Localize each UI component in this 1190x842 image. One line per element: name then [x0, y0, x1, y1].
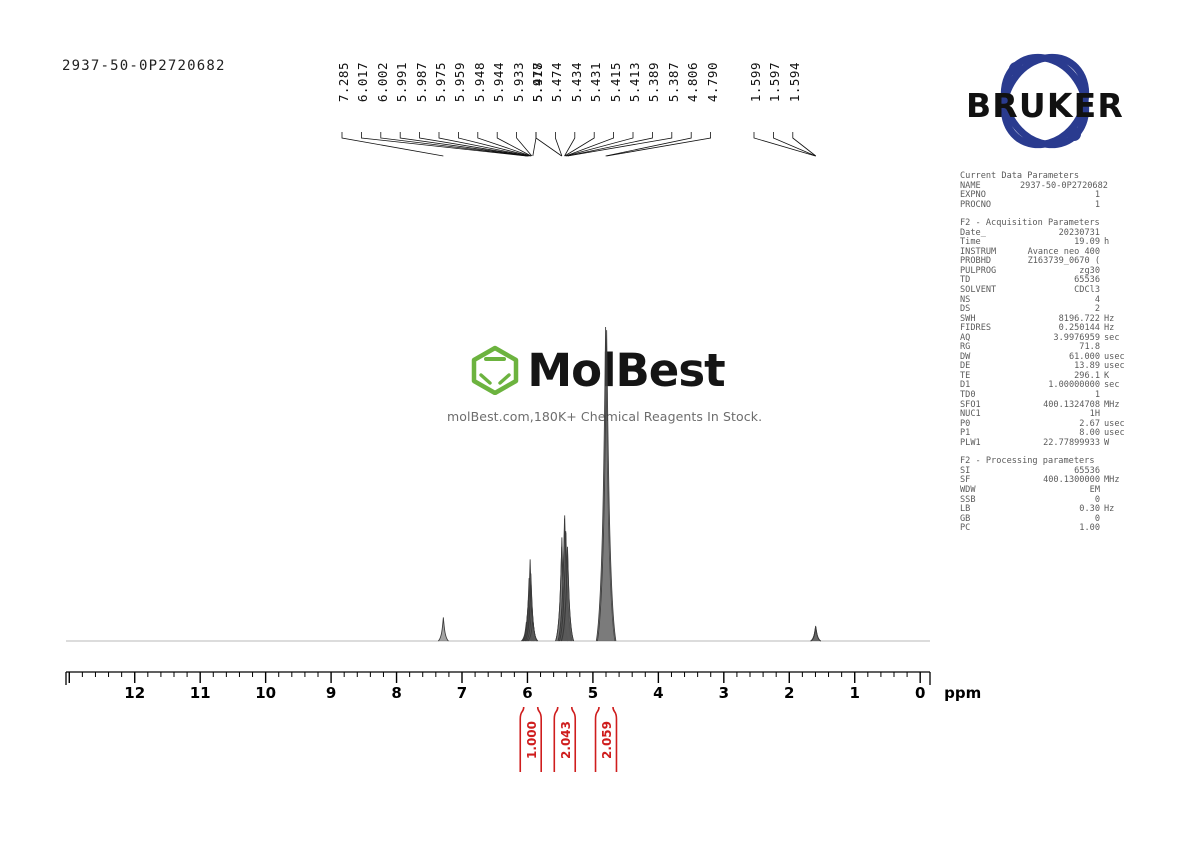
- axis-tick-label: 5: [588, 684, 598, 702]
- integral-value: 2.059: [600, 721, 614, 759]
- spectrum-peak: [438, 617, 448, 641]
- integral-value: 2.043: [559, 721, 573, 759]
- peak-leader-lines: [342, 132, 816, 156]
- axis-tick-label: 2: [784, 684, 794, 702]
- peak-leader-line: [606, 132, 692, 156]
- axis-tick-label: 7: [457, 684, 467, 702]
- axis-tick-label: 12: [124, 684, 145, 702]
- axis-tick-label: 1: [850, 684, 860, 702]
- spectrum-plot: [0, 0, 1190, 842]
- axis-tick-label: 9: [326, 684, 336, 702]
- peak-leader-line: [565, 132, 575, 156]
- axis-tick-label: 6: [522, 684, 532, 702]
- axis-tick-label: 11: [190, 684, 211, 702]
- axis-tick-label: 10: [255, 684, 276, 702]
- peak-leader-line: [533, 132, 536, 156]
- axis-tick-label: 3: [719, 684, 729, 702]
- peak-leader-line: [773, 132, 815, 156]
- axis-unit-label: ppm: [944, 684, 981, 702]
- spectrum-trace: [66, 327, 930, 641]
- spectrum-peak: [811, 627, 821, 641]
- axis-tick-label: 0: [915, 684, 925, 702]
- nmr-spectrum-page: 2937-50-0P2720682 BRUKER 7.2856.0176.002…: [0, 0, 1190, 842]
- axis-tick-label: 4: [653, 684, 663, 702]
- integral-value: 1.000: [525, 721, 539, 759]
- axis-tick-label: 8: [391, 684, 401, 702]
